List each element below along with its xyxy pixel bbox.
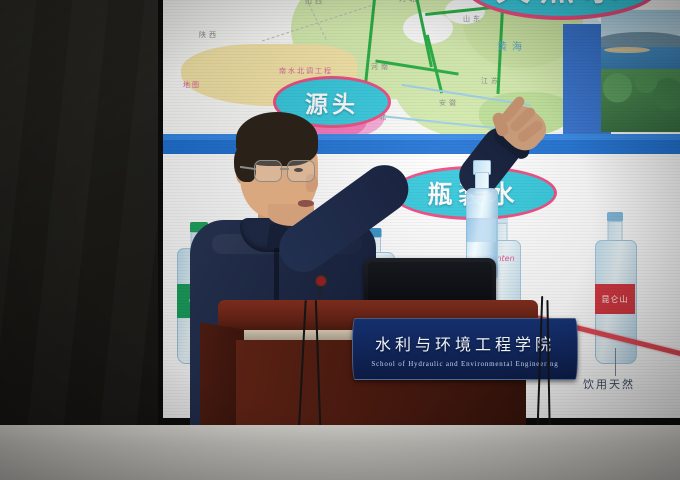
podium-sign-english: School of Hydraulic and Environmental En… — [371, 360, 558, 368]
map-province-label: 山西 — [305, 0, 325, 6]
podium-sign-chinese: 水利与环境工程学院 — [375, 331, 555, 355]
map-pink-label: 地图 — [183, 80, 201, 90]
leader-line — [615, 348, 616, 376]
map-project-label: 南水北调工程 — [279, 66, 333, 76]
bottle-label — [466, 218, 496, 242]
map-province-label: 河南 — [371, 62, 391, 72]
slide-landscape-photo — [601, 10, 680, 132]
product-caption: 饮用天然 — [583, 376, 635, 392]
lecture-scene: 陕西 山西 河北 山东 河南 安徽 江苏 湖北 上海 黄海 地图 南水北调工程 — [0, 0, 680, 480]
speaker-hair-side — [234, 146, 256, 182]
map-province-label: 陕西 — [199, 30, 219, 40]
laptop-screen — [368, 262, 492, 305]
map-province-label: 山东 — [463, 14, 483, 24]
map-province-label: 河北 — [399, 0, 419, 4]
dark-wall — [0, 0, 165, 430]
map-sea-label: 黄海 — [497, 38, 527, 53]
lower-wall — [0, 425, 680, 480]
map-province-label: 江苏 — [481, 76, 501, 86]
podium-name-plate: 水利与环境工程学院 School of Hydraulic and Enviro… — [352, 318, 578, 380]
product-label: 昆仑山 — [602, 294, 629, 305]
eyeglasses-icon — [254, 160, 320, 182]
map-province-label: 安徽 — [439, 98, 459, 108]
lapel-microphone-icon — [316, 276, 326, 286]
